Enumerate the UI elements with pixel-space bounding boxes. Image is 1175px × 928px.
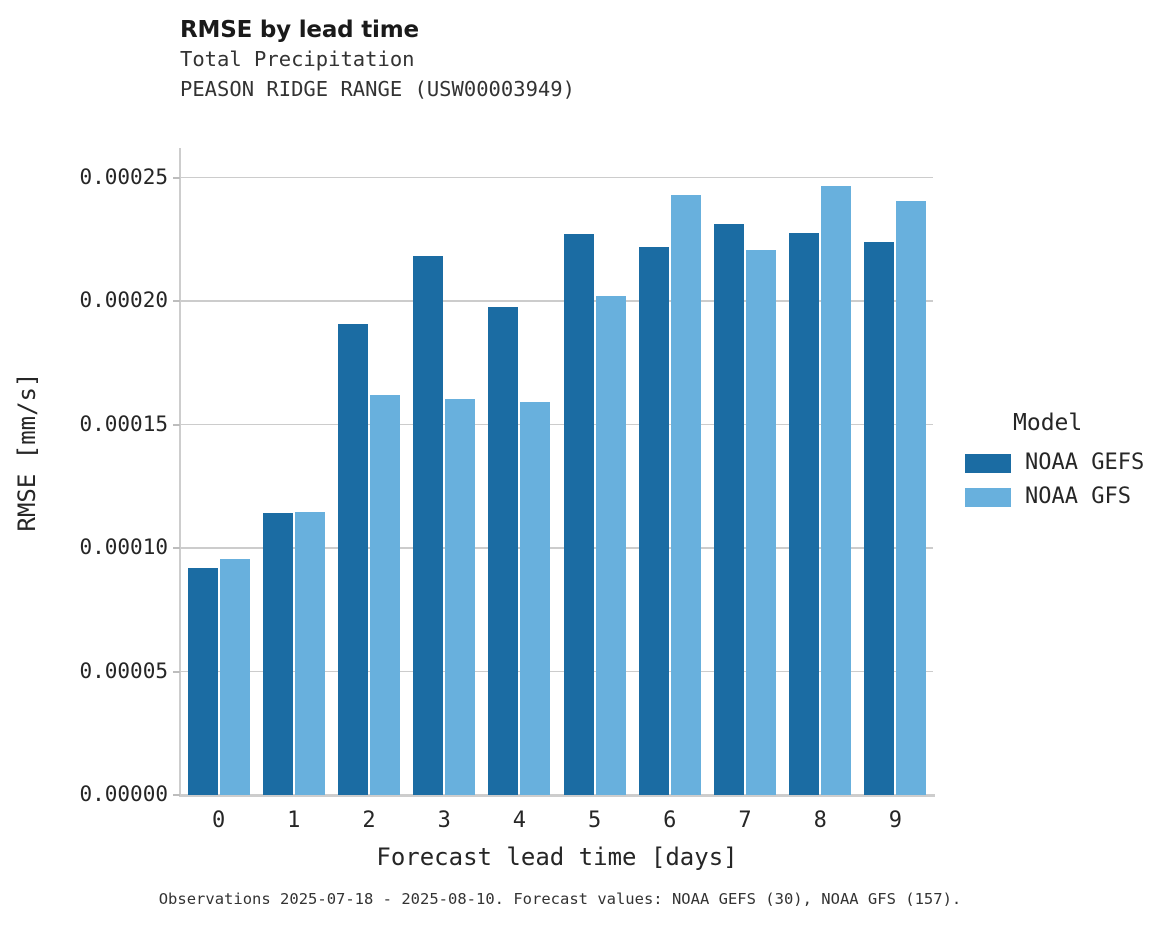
y-axis-tick-label: 0.00015 [79, 414, 168, 435]
y-axis-tick [173, 547, 180, 549]
y-axis-tick-label: 0.00005 [79, 661, 168, 682]
bar-noaa-gefs-day-1 [263, 513, 293, 795]
bar-noaa-gfs-day-0 [220, 559, 250, 795]
bar-noaa-gefs-day-3 [413, 256, 443, 795]
gridline [181, 671, 933, 673]
bar-noaa-gfs-day-5 [596, 296, 626, 795]
legend-swatch-icon [965, 488, 1011, 507]
legend-item-label: NOAA GEFS [1025, 452, 1144, 474]
y-axis-tick [173, 300, 180, 302]
legend-item-noaa-gfs[interactable]: NOAA GFS [965, 480, 1175, 514]
y-axis-title: RMSE [mm/s] [13, 332, 41, 572]
footer-note: Observations 2025-07-18 - 2025-08-10. Fo… [0, 889, 1120, 909]
bar-noaa-gefs-day-6 [639, 247, 669, 795]
x-axis-tick-label: 4 [489, 808, 549, 834]
x-axis-tick-label: 8 [790, 808, 850, 834]
bar-noaa-gfs-day-7 [746, 250, 776, 795]
plot-area [181, 148, 933, 795]
x-axis-tick-label: 9 [865, 808, 925, 834]
bar-noaa-gefs-day-4 [488, 307, 518, 795]
gridline [181, 177, 933, 179]
x-axis-tick-label: 6 [640, 808, 700, 834]
x-axis-title: Forecast lead time [days] [181, 843, 933, 871]
y-axis-tick-label: 0.00020 [79, 290, 168, 311]
bar-noaa-gfs-day-4 [520, 402, 550, 795]
gridline [181, 547, 933, 549]
bar-noaa-gfs-day-1 [295, 512, 325, 795]
legend-title: Model [1013, 408, 1175, 438]
bar-noaa-gfs-day-6 [671, 195, 701, 795]
bar-noaa-gfs-day-9 [896, 201, 926, 795]
y-axis-tick-label: 0.00010 [79, 537, 168, 558]
x-axis-tick-label: 2 [339, 808, 399, 834]
x-axis-tick-label: 5 [565, 808, 625, 834]
legend-item-label: NOAA GFS [1025, 486, 1131, 508]
bar-noaa-gefs-day-0 [188, 568, 218, 795]
x-axis-tick-label: 1 [264, 808, 324, 834]
bar-noaa-gfs-day-8 [821, 186, 851, 795]
bar-noaa-gefs-day-7 [714, 224, 744, 795]
x-axis-tick-label: 3 [414, 808, 474, 834]
bar-noaa-gfs-day-2 [370, 395, 400, 795]
legend-swatch-icon [965, 454, 1011, 473]
legend: Model NOAA GEFSNOAA GFS [965, 408, 1175, 514]
y-axis-tick-label: 0.00000 [79, 784, 168, 805]
x-axis-tick-label: 7 [715, 808, 775, 834]
x-axis-tick-label: 0 [189, 808, 249, 834]
gridline [181, 300, 933, 302]
y-axis-tick [173, 424, 180, 426]
y-axis-tick [173, 671, 180, 673]
bar-noaa-gefs-day-9 [864, 242, 894, 795]
legend-entries: NOAA GEFSNOAA GFS [965, 446, 1175, 514]
bar-noaa-gefs-day-2 [338, 324, 368, 795]
legend-item-noaa-gefs[interactable]: NOAA GEFS [965, 446, 1175, 480]
bar-noaa-gfs-day-3 [445, 399, 475, 795]
bar-noaa-gefs-day-5 [564, 234, 594, 795]
y-axis-tick [173, 177, 180, 179]
bar-noaa-gefs-day-8 [789, 233, 819, 795]
gridline [181, 424, 933, 426]
y-axis-tick-label: 0.00025 [79, 167, 168, 188]
y-axis-tick [173, 794, 180, 796]
